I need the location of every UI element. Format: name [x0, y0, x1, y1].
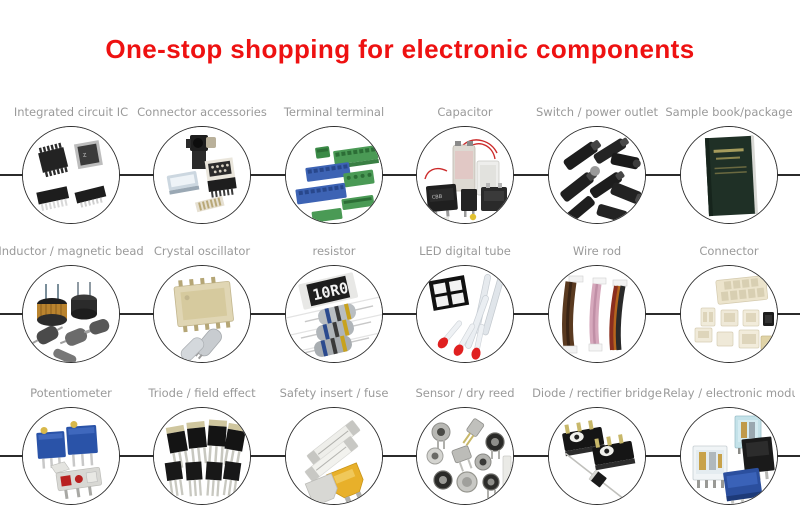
- led-digital-tube-icon: [416, 265, 514, 363]
- sensors-reed-icon: [416, 407, 514, 505]
- transistors-icon: [153, 407, 251, 505]
- relays-icon: [680, 407, 778, 505]
- category-cell-relay-electronic-module[interactable]: Relay / electronic module: [663, 386, 795, 526]
- category-cell-potentiometer[interactable]: Potentiometer: [5, 386, 137, 526]
- crystal-oscillator-icon: [153, 265, 251, 363]
- potentiometers-icon: [22, 407, 120, 505]
- category-cell-led-digital-tube[interactable]: LED digital tube: [399, 244, 531, 384]
- svg-text:CBB: CBB: [432, 194, 443, 201]
- category-cell-connector[interactable]: Connector: [663, 244, 795, 384]
- category-cell-terminal-terminal[interactable]: Terminal terminal: [268, 105, 400, 245]
- category-cell-integrated-circuit-ic[interactable]: Integrated circuit IC: [5, 105, 137, 245]
- category-cell-sensor-dry-reed[interactable]: Sensor / dry reed: [399, 386, 531, 526]
- category-row-1: Integrated circuit IC: [0, 105, 800, 245]
- fuses-icon: [285, 407, 383, 505]
- inductors-icon: [22, 265, 120, 363]
- category-cell-inductor-magnetic-bead[interactable]: Inductor / magnetic bead: [5, 244, 137, 384]
- category-row-2: Inductor / magnetic bead: [0, 244, 800, 384]
- category-label: Relay / electronic module: [663, 386, 795, 400]
- connector-housings-icon: [680, 265, 778, 363]
- category-cell-diode-rectifier-bridge[interactable]: Diode / rectifier bridge: [531, 386, 663, 526]
- category-cell-triode-field-effect[interactable]: Triode / field effect: [136, 386, 268, 526]
- category-cell-switch-power-outlet[interactable]: Switch / power outlet: [531, 105, 663, 245]
- page-title: One-stop shopping for electronic compone…: [0, 34, 800, 65]
- category-cell-safety-insert-fuse[interactable]: Safety insert / fuse: [268, 386, 400, 526]
- category-cell-connector-accessories[interactable]: Connector accessories: [136, 105, 268, 245]
- ic-chips-icon: Z: [22, 126, 120, 224]
- category-cell-crystal-oscillator[interactable]: Crystal oscillator: [136, 244, 268, 384]
- rectifier-bridge-icon: [548, 407, 646, 505]
- category-label: Sample book/package: [647, 105, 800, 119]
- connector-accessories-icon: [153, 126, 251, 224]
- wire-rod-icon: [548, 265, 646, 363]
- category-label: Diode / rectifier bridge: [515, 386, 679, 400]
- category-cell-wire-rod[interactable]: Wire rod: [531, 244, 663, 384]
- terminal-blocks-icon: [285, 126, 383, 224]
- category-cell-sample-book-package[interactable]: Sample book/package: [663, 105, 795, 245]
- category-cell-capacitor[interactable]: Capacitor: [399, 105, 531, 245]
- capacitors-icon: CBB: [416, 126, 514, 224]
- category-cell-resistor[interactable]: resistor 10R0: [268, 244, 400, 384]
- category-row-3: Potentiometer: [0, 386, 800, 526]
- promo-banner: One-stop shopping for electronic compone…: [0, 0, 800, 528]
- resistors-icon: 10R0: [285, 265, 383, 363]
- switches-outlets-icon: [548, 126, 646, 224]
- category-label: Connector: [647, 244, 800, 258]
- sample-book-icon: [680, 126, 778, 224]
